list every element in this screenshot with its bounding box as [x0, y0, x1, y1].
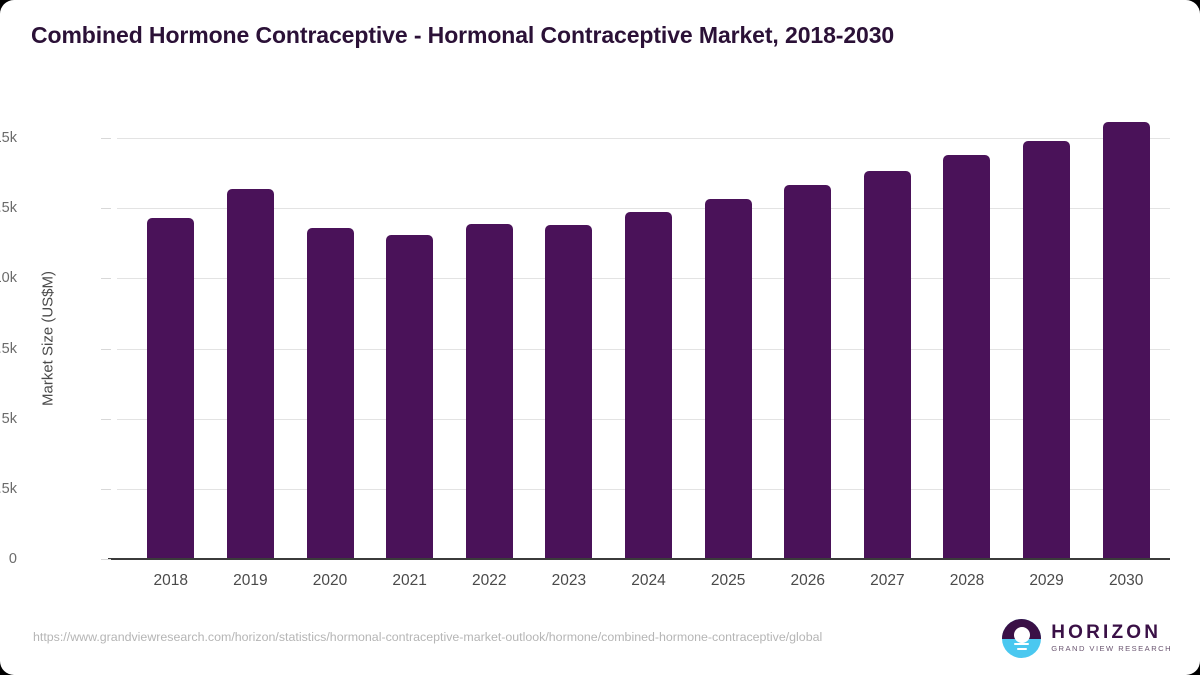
logo-text-block: HORIZON GRAND VIEW RESEARCH: [1051, 623, 1172, 654]
bar[interactable]: [227, 189, 274, 559]
bar[interactable]: [386, 235, 433, 559]
y-tick-mark: [101, 278, 111, 279]
y-tick-mark: [101, 489, 111, 490]
bar[interactable]: [466, 224, 513, 559]
x-tick-label: 2024: [604, 572, 694, 590]
y-tick-mark: [101, 349, 111, 350]
x-tick-label: 2021: [365, 572, 455, 590]
x-tick-label: 2030: [1081, 572, 1171, 590]
bar-series: [117, 110, 1170, 559]
x-axis-line: [108, 558, 1170, 560]
x-tick-label: 2029: [1002, 572, 1092, 590]
bar[interactable]: [1103, 122, 1150, 559]
x-tick-label: 2019: [205, 572, 295, 590]
source-url[interactable]: https://www.grandviewresearch.com/horizo…: [33, 628, 978, 647]
x-tick-label: 2018: [126, 572, 216, 590]
x-tick-label: 2023: [524, 572, 614, 590]
plot-area: [117, 110, 1170, 559]
horizon-logo: HORIZON GRAND VIEW RESEARCH: [1002, 619, 1172, 658]
x-tick-label: 2022: [444, 572, 534, 590]
y-tick-mark: [101, 208, 111, 209]
horizon-sunrise-icon: [1002, 619, 1041, 658]
y-tick-label: 5k: [0, 411, 17, 427]
bar[interactable]: [1023, 141, 1070, 559]
bar[interactable]: [705, 199, 752, 559]
chart-card: Combined Hormone Contraceptive - Hormona…: [0, 0, 1200, 675]
y-tick-label: 0: [0, 551, 17, 567]
bar[interactable]: [147, 218, 194, 559]
chart-container: Market Size (US$M) 02.5k5k7.5k10k12.5k15…: [0, 0, 1200, 675]
y-tick-label: 12.5k: [0, 200, 17, 216]
logo-wordmark: HORIZON: [1051, 623, 1172, 643]
y-tick-mark: [101, 419, 111, 420]
y-tick-label: 7.5k: [0, 341, 17, 357]
x-tick-label: 2027: [842, 572, 932, 590]
bar[interactable]: [307, 228, 354, 559]
y-tick-mark: [101, 559, 111, 560]
logo-tagline: GRAND VIEW RESEARCH: [1051, 643, 1172, 654]
y-tick-label: 2.5k: [0, 481, 17, 497]
logo-ray-lower: [1017, 648, 1027, 650]
y-tick-mark: [101, 138, 111, 139]
x-tick-label: 2020: [285, 572, 375, 590]
logo-ray-upper: [1014, 643, 1029, 645]
bar[interactable]: [864, 171, 911, 559]
logo-sun-shape: [1014, 627, 1030, 643]
bar[interactable]: [545, 225, 592, 560]
bar[interactable]: [943, 155, 990, 559]
x-tick-label: 2028: [922, 572, 1012, 590]
x-tick-label: 2026: [763, 572, 853, 590]
bar[interactable]: [625, 212, 672, 559]
x-tick-label: 2025: [683, 572, 773, 590]
y-tick-label: 10k: [0, 270, 17, 286]
y-axis-title: Market Size (US$M): [40, 209, 57, 469]
y-tick-label: 15k: [0, 130, 17, 146]
bar[interactable]: [784, 185, 831, 559]
